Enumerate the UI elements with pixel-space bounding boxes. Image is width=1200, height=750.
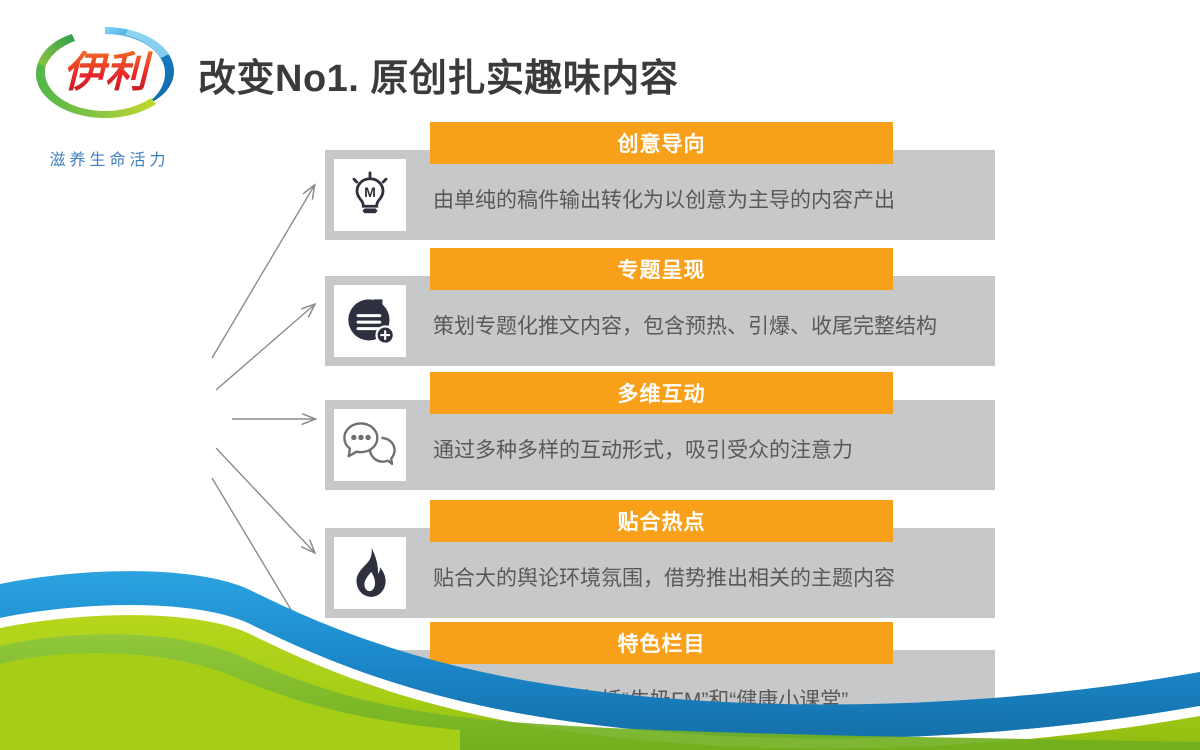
arrow-to-row-2 [216, 305, 314, 390]
row-description: 策划专题化推文内容，包含预热、引爆、收尾完整结构 [433, 316, 993, 337]
lightbulb-icon: M [334, 159, 406, 231]
slide-canvas: 伊利 滋养生命活力 改变No1. 原创扎实趣味内容 创意导向 [0, 0, 1200, 750]
arrow-to-row-1 [212, 186, 314, 358]
brand-tagline: 滋养生命活力 [22, 146, 197, 170]
chat-bubbles-icon [334, 409, 406, 481]
row-title[interactable]: 贴合热点 [430, 500, 893, 542]
svg-text:伊利: 伊利 [63, 51, 153, 97]
row-title[interactable]: 创意导向 [430, 122, 893, 164]
brand-logo: 伊利 滋养生命活力 [22, 18, 202, 168]
yili-logo-icon: 伊利 [30, 20, 180, 125]
document-add-icon [334, 285, 406, 357]
row-title[interactable]: 多维互动 [430, 372, 893, 414]
page-title: 改变No1. 原创扎实趣味内容 [198, 47, 678, 102]
bottom-ribbon-decoration [0, 560, 1200, 750]
row-description: 由单纯的稿件输出转化为以创意为主导的内容产出 [433, 190, 993, 211]
arrow-to-row-4 [216, 448, 314, 552]
row-title[interactable]: 专题呈现 [430, 248, 893, 290]
svg-text:M: M [364, 184, 376, 200]
row-description: 通过多种多样的互动形式，吸引受众的注意力 [433, 440, 993, 461]
